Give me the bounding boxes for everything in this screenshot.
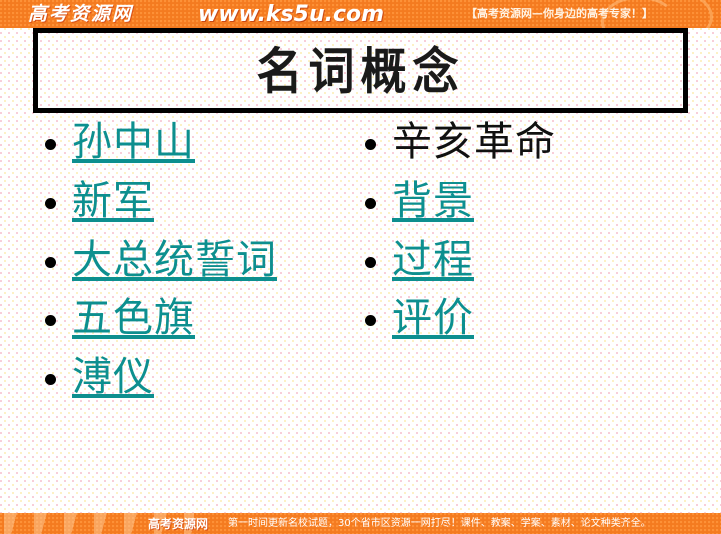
link-wuseqi[interactable]: 五色旗 [72, 295, 195, 341]
left-column: 孙中山 新军 大总统誓词 五色旗 溥仪 [40, 122, 360, 416]
content-columns: 孙中山 新军 大总统誓词 五色旗 溥仪 [0, 122, 721, 502]
list-item[interactable]: 大总统誓词 [40, 240, 360, 281]
bullet-dot-icon [45, 198, 56, 209]
link-guocheng[interactable]: 过程 [392, 237, 474, 283]
link-beijing[interactable]: 背景 [392, 178, 474, 224]
list-item[interactable]: 过程 [360, 240, 690, 281]
link-sun-zhongshan[interactable]: 孙中山 [72, 119, 195, 165]
right-column: 辛亥革命 背景 过程 评价 [360, 122, 690, 357]
bullet-dot-icon [45, 315, 56, 326]
bullet-dot-icon [365, 139, 376, 150]
top-banner-brand-script: 高考资源网 [28, 0, 133, 28]
list-item[interactable]: 孙中山 [40, 122, 360, 163]
list-item[interactable]: 评价 [360, 298, 690, 339]
slide-title: 名词概念 [257, 46, 465, 96]
list-item[interactable]: 五色旗 [40, 298, 360, 339]
label-xinhai-geming: 辛亥革命 [392, 119, 556, 165]
bullet-dot-icon [45, 257, 56, 268]
list-item[interactable]: 溥仪 [40, 357, 360, 398]
bullet-dot-icon [45, 374, 56, 385]
list-item[interactable]: 背景 [360, 181, 690, 222]
link-pingjia[interactable]: 评价 [392, 295, 474, 341]
bottom-banner-brand: 高考资源网 [148, 516, 208, 532]
bullet-dot-icon [365, 315, 376, 326]
title-box: 名词概念 [33, 28, 688, 113]
slide: 高考资源网 www.ks5u.com 【高考资源网—你身边的高考专家！】 名词概… [0, 0, 721, 534]
top-banner-tagline: 【高考资源网—你身边的高考专家！】 [466, 4, 653, 24]
list-item[interactable]: 新军 [40, 181, 360, 222]
right-bullet-list: 辛亥革命 背景 过程 评价 [360, 122, 690, 339]
link-xinjun[interactable]: 新军 [72, 178, 154, 224]
bullet-dot-icon [45, 139, 56, 150]
bottom-banner: 高考资源网 第一时间更新名校试题，30个省市区资源一网打尽！课件、教案、学案、素… [0, 513, 721, 534]
top-banner: 高考资源网 www.ks5u.com 【高考资源网—你身边的高考专家！】 [0, 0, 721, 28]
link-dazongtong-shici[interactable]: 大总统誓词 [72, 237, 277, 283]
top-banner-url: www.ks5u.com [198, 1, 384, 28]
bullet-dot-icon [365, 257, 376, 268]
link-puyi[interactable]: 溥仪 [72, 354, 154, 400]
bottom-banner-slogan: 第一时间更新名校试题，30个省市区资源一网打尽！课件、教案、学案、素材、论文种类… [228, 517, 651, 531]
list-item: 辛亥革命 [360, 122, 690, 163]
left-bullet-list: 孙中山 新军 大总统誓词 五色旗 溥仪 [40, 122, 360, 398]
bullet-dot-icon [365, 198, 376, 209]
